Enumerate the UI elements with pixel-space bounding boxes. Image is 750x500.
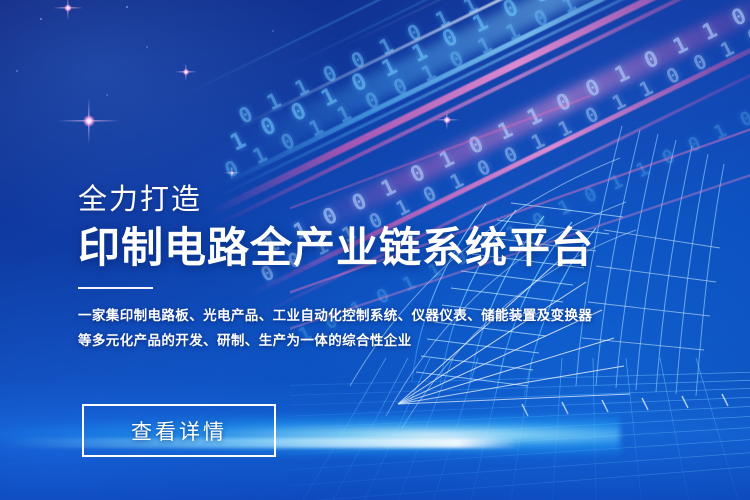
light-tube: [237, 0, 750, 129]
title-divider: [78, 287, 153, 289]
guide-line: [180, 0, 750, 97]
banner-kicker: 全力打造: [78, 186, 598, 215]
binary-row: 0 1 0 1 1 0 0 1 0 1 1 0 1 0 0 1 1 0 0 1 …: [221, 0, 750, 183]
dust-speck: [40, 18, 42, 20]
dust-speck: [146, 46, 148, 48]
banner-description-line-2: 等多元化产品的开发、研制、生产为一体的综合性企业: [78, 328, 598, 353]
view-details-button[interactable]: 查看详情: [82, 404, 276, 457]
guide-line: [330, 0, 750, 53]
dust-speck: [16, 70, 18, 72]
binary-row: 1 0 0 1 0 1 1 0 1 0 0 1 0 1 1 0 0 1 1 0 …: [226, 0, 750, 157]
light-tube: [221, 0, 750, 187]
light-tube: [215, 0, 750, 199]
hero-banner: 0 1 1 0 0 1 0 1 1 0 0 1 1 0 1 0 0 1 1 0 …: [0, 0, 750, 500]
banner-headline: 印制电路全产业链系统平台: [78, 226, 598, 270]
dust-speck: [106, 94, 108, 96]
dust-speck: [126, 6, 128, 8]
binary-row: 0 1 1 0 0 1 0 1 1 0 0 1 1 0 1 0 0 1 1 0 …: [235, 0, 749, 129]
dust-speck: [272, 30, 274, 32]
light-tube: [208, 0, 750, 217]
banner-content: 全力打造 印制电路全产业链系统平台 一家集印制电路板、光电产品、工业自动化控制系…: [78, 186, 598, 353]
banner-description-line-1: 一家集印制电路板、光电产品、工业自动化控制系统、仪器仪表、储能装置及变换器: [78, 303, 598, 328]
guide-line: [276, 0, 750, 73]
stream-glow: [244, 0, 750, 160]
